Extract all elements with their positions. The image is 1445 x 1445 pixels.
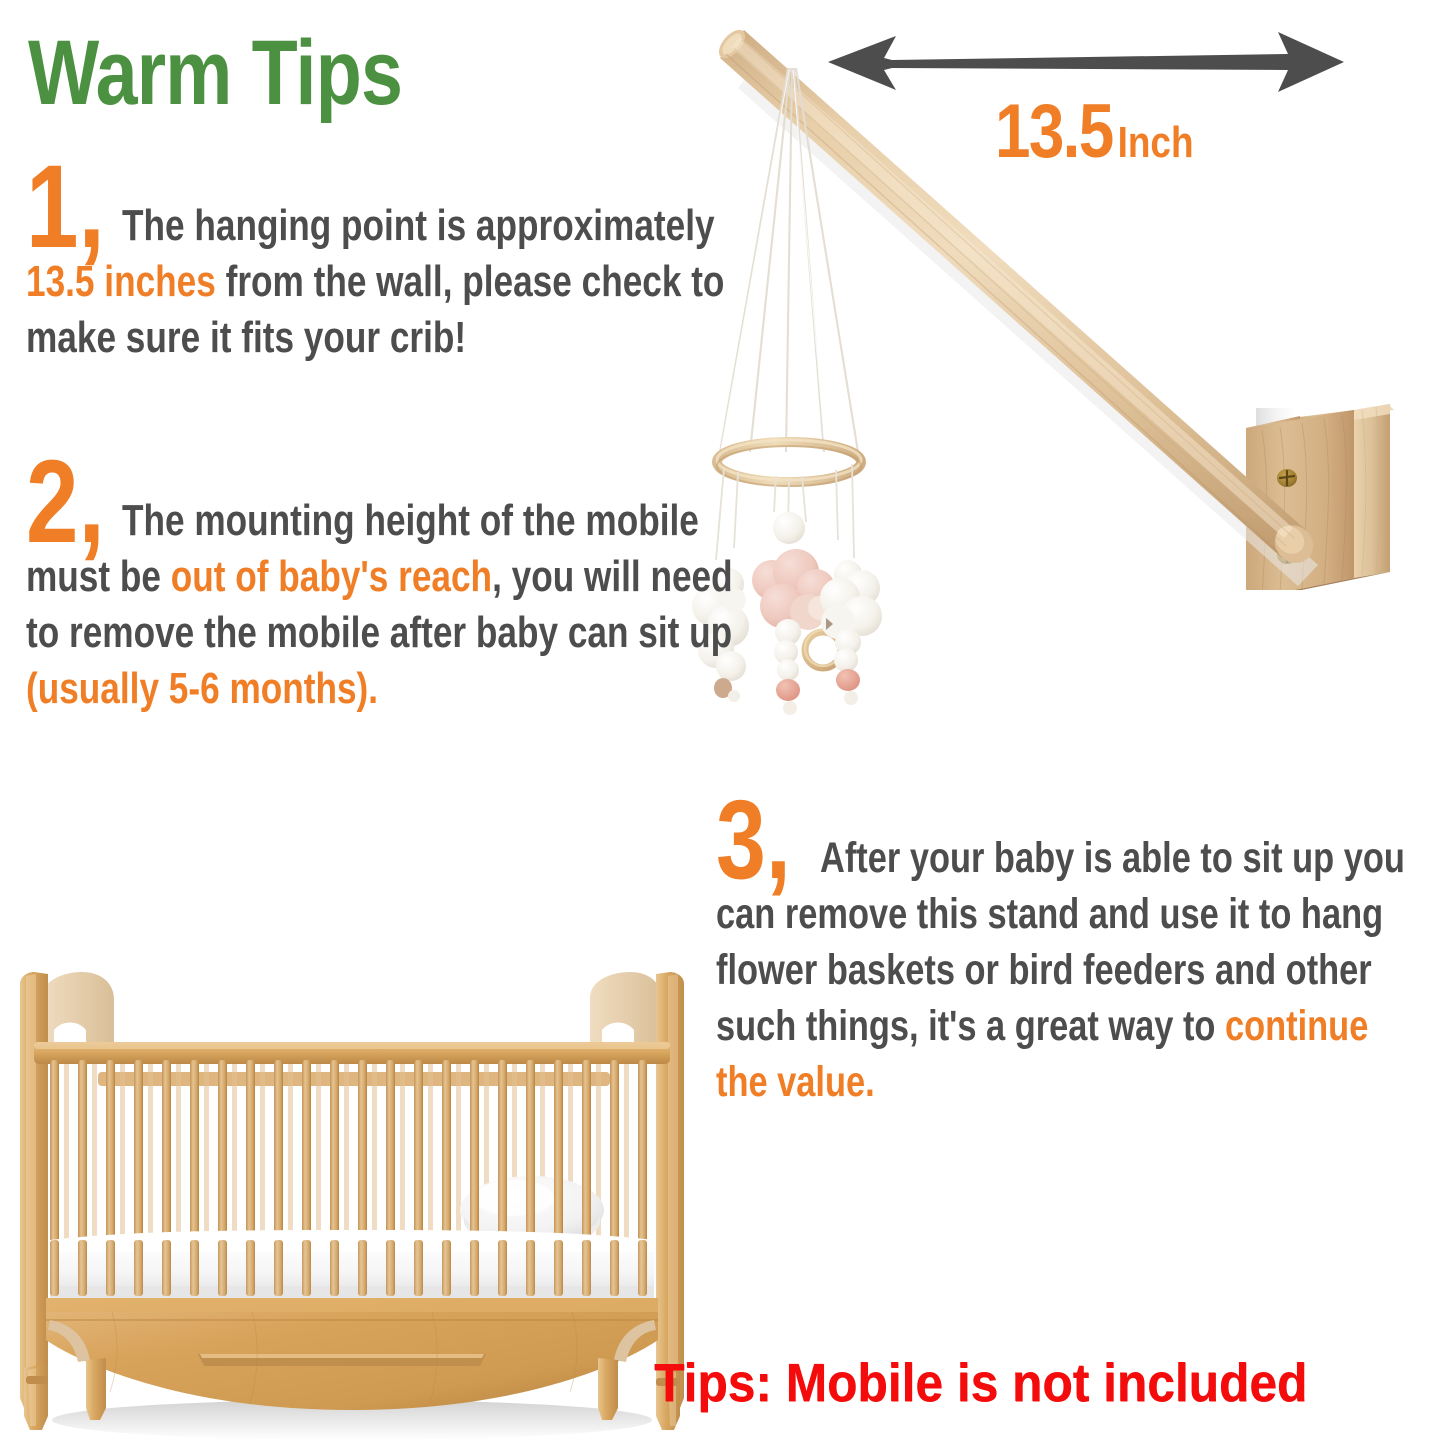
brass-screw-top	[1277, 469, 1297, 487]
page-title: Warm Tips	[28, 30, 402, 117]
pink-bead	[776, 679, 800, 701]
felt-cloud-white	[820, 560, 882, 705]
tip-2-seg-1-highlight: out of baby's reach	[171, 552, 492, 601]
tip-1-seg-1-highlight: 13.5 inches	[26, 257, 216, 306]
tip-1-seg-0: The hanging point is approximately	[122, 201, 715, 250]
tip-2-seg-3-highlight: (usually 5-6 months).	[26, 664, 378, 713]
mobile-not-included-note: Tips: Mobile is not included	[654, 1352, 1307, 1414]
crib-headboard-panels	[42, 972, 662, 1048]
tip-2-text: The mounting height of the mobile must b…	[26, 493, 746, 717]
felt-ball-center	[773, 512, 805, 544]
wooden-baby-crib-photo	[2, 968, 702, 1445]
tip-3-text: After your baby is able to sit up you ca…	[716, 831, 1420, 1110]
curved-base-panel	[46, 1298, 658, 1410]
infographic-canvas: Warm Tips 13.5Inch	[0, 0, 1445, 1445]
tip-1-text: The hanging point is approximately 13.5 …	[26, 198, 790, 366]
